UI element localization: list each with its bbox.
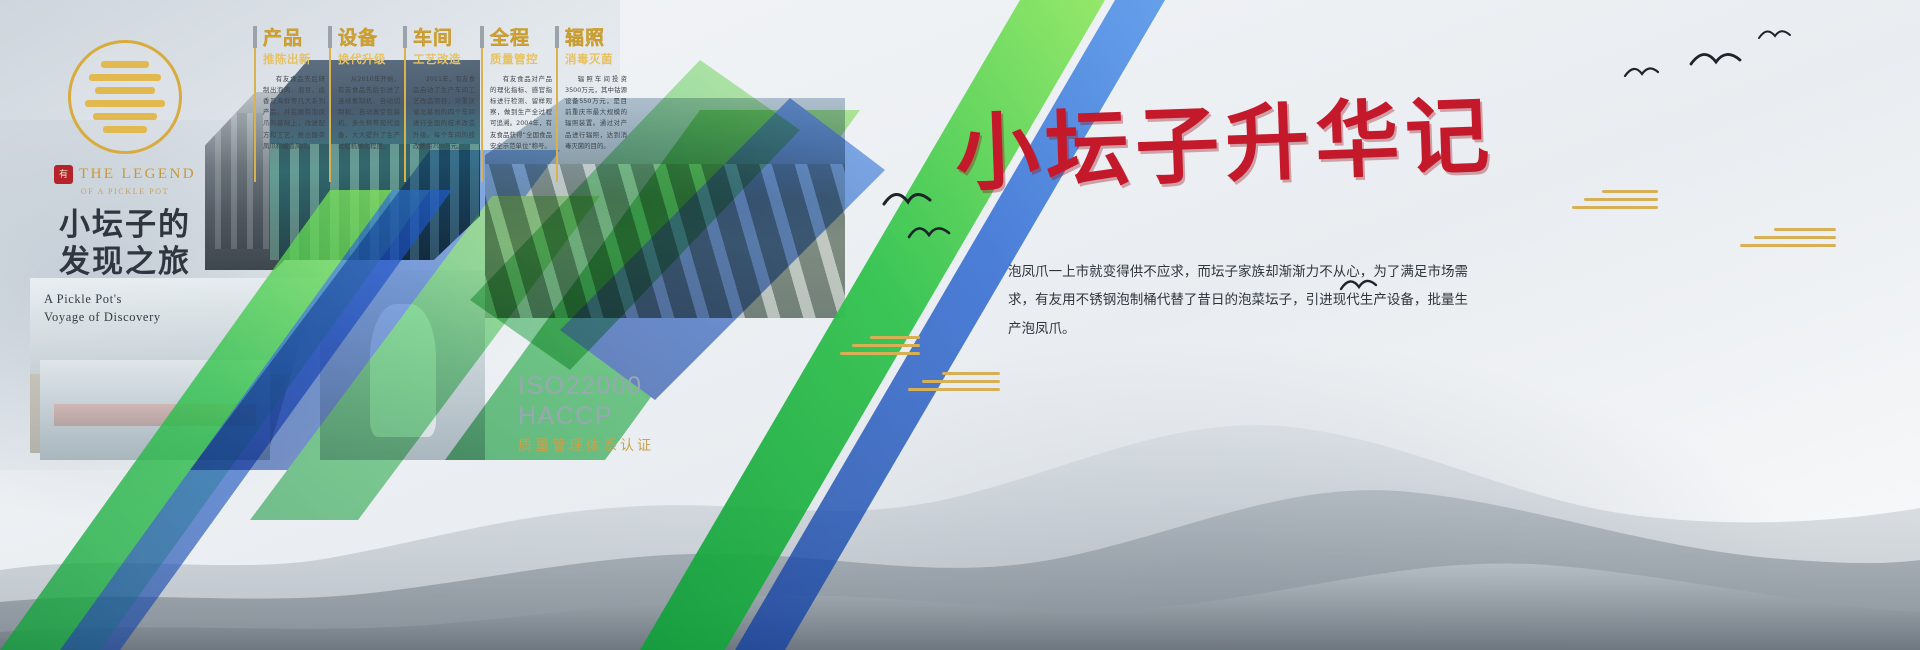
info-card-workshop: 车间 工艺改造 2011年，有友食品启动了生产车间工艺改造项目，对重庆渝北基地的… xyxy=(413,28,475,152)
brand-seal-icon: 有 xyxy=(54,165,73,184)
card-subtitle: 工艺改造 xyxy=(413,51,475,67)
card-title: 全程 xyxy=(490,28,552,49)
card-title: 设备 xyxy=(338,28,400,49)
card-rule xyxy=(556,30,558,182)
info-card-product: 产品 推陈出新 有友食品先后研制出泡肉、泡豆、卤香及海鲜等几大系列产品，并在原有… xyxy=(263,28,325,152)
card-subtitle: 质量管控 xyxy=(490,51,552,67)
certification-line-1: ISO22000 xyxy=(518,372,778,402)
card-rule xyxy=(254,30,256,182)
card-rule xyxy=(329,30,331,182)
brand-cn-title-line2: 发现之旅 xyxy=(30,245,220,280)
certification-block: ISO22000 HACCP 质量管理体系认证 xyxy=(518,372,778,455)
legend-sub-text: OF A PICKLE POT xyxy=(30,187,220,196)
card-body: 2011年，有友食品启动了生产车间工艺改造项目，对重庆渝北基地的四个车间进行全面… xyxy=(413,74,475,152)
certification-line-2: HACCP xyxy=(518,402,778,432)
info-card-irradiation: 辐照 消毒灭菌 辐照车间投资3500万元，其中钴源设备550万元，是目前重庆市最… xyxy=(565,28,627,152)
legend-wordmark: 有 THE LEGEND xyxy=(30,165,220,184)
card-rule xyxy=(404,30,406,182)
card-rule xyxy=(481,30,483,182)
card-body: 有友食品对产品的理化指标、感官指标进行检测、留样观察，做到生产全过程可追溯。20… xyxy=(490,74,552,152)
pickle-pot-seal-icon xyxy=(68,40,182,154)
cloud-ornament-icon xyxy=(1740,228,1836,252)
card-title: 辐照 xyxy=(565,28,627,49)
cloud-ornament-icon xyxy=(840,336,920,360)
bird-icon xyxy=(905,215,965,249)
brand-logo-block: 有 THE LEGEND OF A PICKLE POT 小坛子的 发现之旅 A… xyxy=(30,40,220,326)
poster-canvas: 有 THE LEGEND OF A PICKLE POT 小坛子的 发现之旅 A… xyxy=(0,0,1920,650)
description-paragraph: 泡凤爪一上市就变得供不应求，而坛子家族却渐渐力不从心，为了满足市场需求，有友用不… xyxy=(1008,258,1468,343)
cloud-ornament-icon xyxy=(908,372,1000,396)
page-title: 小坛子升华记 xyxy=(953,69,1477,207)
card-subtitle: 推陈出新 xyxy=(263,51,325,67)
cloud-ornament-icon xyxy=(1572,190,1658,214)
brand-cn-title-line1: 小坛子的 xyxy=(30,208,220,243)
info-card-equipment: 设备 换代升级 从2010年开始，有友食品先后引进了连续煮制机、自动切制机、自动… xyxy=(338,28,400,152)
legend-en-text: THE LEGEND xyxy=(79,166,196,183)
card-body: 有友食品先后研制出泡肉、泡豆、卤香及海鲜等几大系列产品，并在原有泡凤爪的基础上，… xyxy=(263,74,325,152)
bird-icon xyxy=(880,178,950,218)
card-title: 车间 xyxy=(413,28,475,49)
info-card-quality: 全程 质量管控 有友食品对产品的理化指标、感官指标进行检测、留样观察，做到生产全… xyxy=(490,28,552,152)
card-subtitle: 换代升级 xyxy=(338,51,400,67)
certification-line-3: 质量管理体系认证 xyxy=(518,435,778,455)
brand-en-title-line2: Voyage of Discovery xyxy=(30,308,220,326)
bird-icon xyxy=(1756,22,1800,48)
card-body: 辐照车间投资3500万元，其中钴源设备550万元，是目前重庆市最大规模的辐照装置… xyxy=(565,74,627,152)
card-title: 产品 xyxy=(263,28,325,49)
bird-icon xyxy=(1686,40,1756,80)
card-body: 从2010年开始，有友食品先后引进了连续煮制机、自动切制机、自动真空包装机、多头… xyxy=(338,74,400,152)
bird-icon xyxy=(1622,58,1672,86)
brand-en-title-line1: A Pickle Pot's xyxy=(30,290,220,308)
card-subtitle: 消毒灭菌 xyxy=(565,51,627,67)
